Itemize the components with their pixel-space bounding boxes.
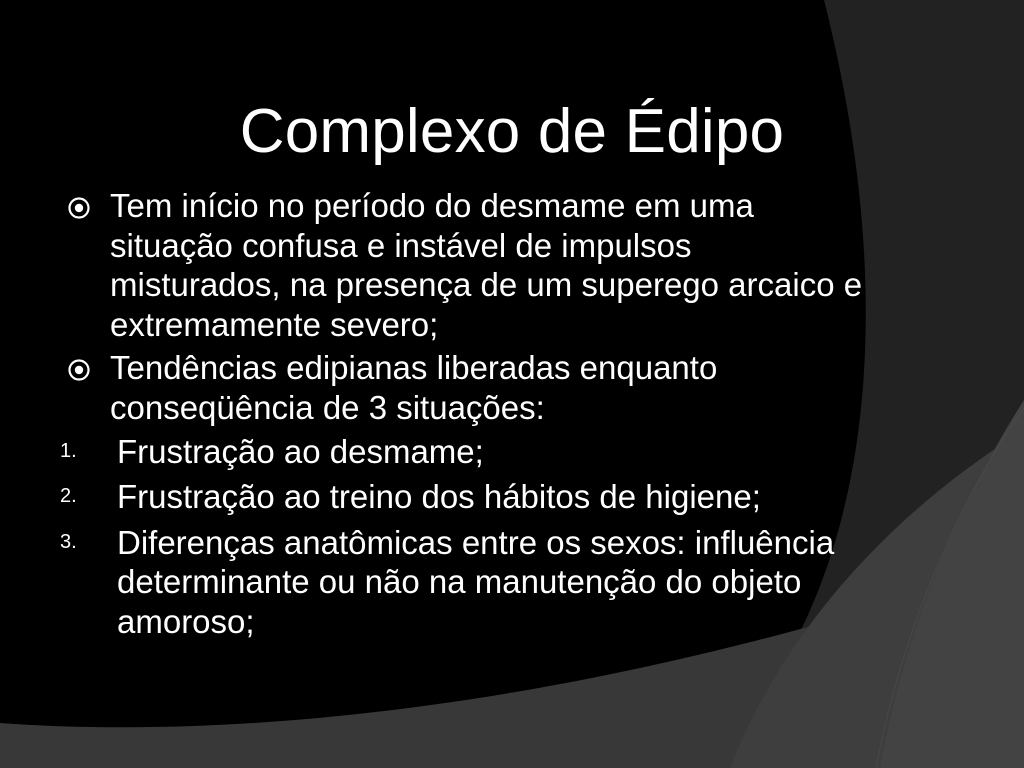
list-item-label: Tendências edipianas liberadas enquanto … xyxy=(110,348,870,427)
list-item-number: 1. xyxy=(60,432,104,472)
presentation-slide: Complexo de Édipo Tem início no período … xyxy=(0,0,1024,768)
numbered-list-item-label: Frustração ao treino dos hábitos de higi… xyxy=(117,477,907,517)
numbered-list-item-label: Diferenças anatômicas entre os sexos: in… xyxy=(117,523,907,642)
slide-content: Complexo de Édipo Tem início no período … xyxy=(0,0,1024,768)
numbered-list-item: 1. Frustração ao desmame; xyxy=(0,432,1024,472)
list-item-label: Tem início no período do desmame em uma … xyxy=(110,186,870,344)
list-item-number: 2. xyxy=(60,477,104,517)
list-item: Tendências edipianas liberadas enquanto … xyxy=(0,348,1024,427)
numbered-list-item-label: Frustração ao desmame; xyxy=(117,432,907,472)
list-item-number: 3. xyxy=(60,523,104,563)
numbered-list-item: 3. Diferenças anatômicas entre os sexos:… xyxy=(0,523,1024,642)
numbered-list-item: 2. Frustração ao treino dos hábitos de h… xyxy=(0,477,1024,517)
circled-dot-bullet-icon xyxy=(66,348,100,386)
circled-dot-bullet-icon xyxy=(66,186,100,224)
page-title: Complexo de Édipo xyxy=(60,100,964,164)
slide-body-list: Tem início no período do desmame em uma … xyxy=(0,186,1024,648)
list-item: Tem início no período do desmame em uma … xyxy=(0,186,1024,344)
